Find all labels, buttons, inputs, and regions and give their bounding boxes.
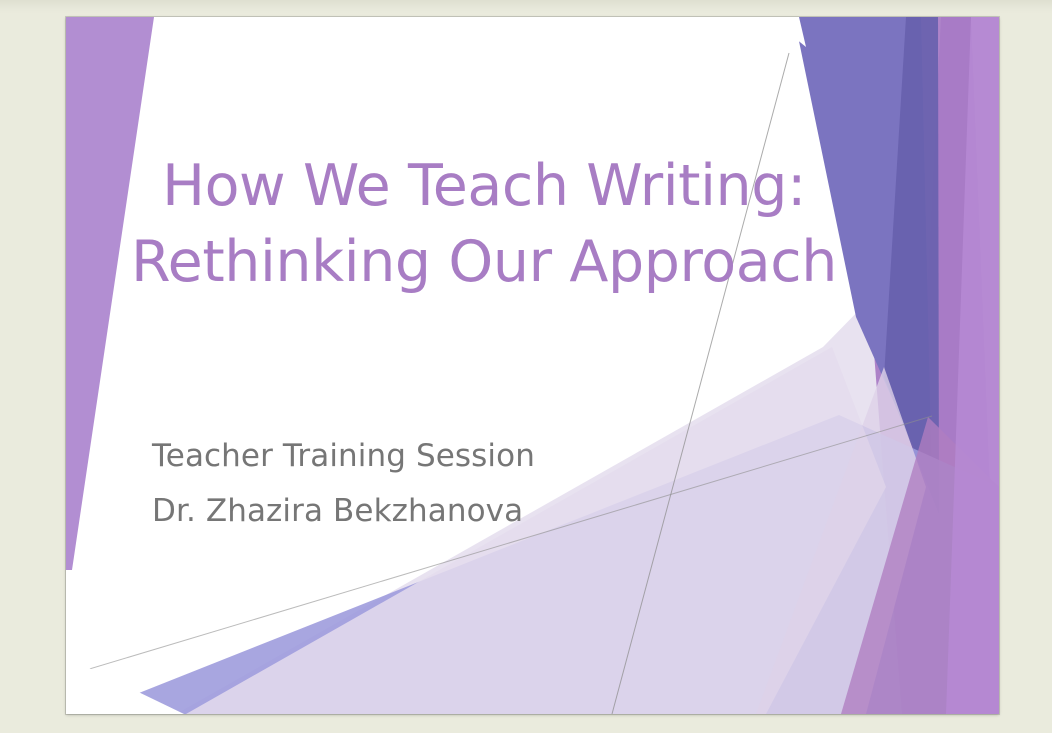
title-slide[interactable]: How We Teach Writing: Rethinking Our App…	[66, 17, 999, 714]
slide-decoration-graphics	[66, 17, 999, 714]
workspace-top-shading	[0, 0, 1052, 14]
slide-subtitle-placeholder[interactable]: Teacher Training Session Dr. Zhazira Bek…	[152, 429, 812, 539]
presentation-workspace: How We Teach Writing: Rethinking Our App…	[0, 0, 1052, 733]
page-title: How We Teach Writing: Rethinking Our App…	[128, 149, 840, 301]
subtitle-line-session: Teacher Training Session	[152, 429, 812, 484]
subtitle-line-presenter: Dr. Zhazira Bekzhanova	[152, 484, 812, 539]
slide-title-placeholder[interactable]: How We Teach Writing: Rethinking Our App…	[128, 149, 840, 301]
